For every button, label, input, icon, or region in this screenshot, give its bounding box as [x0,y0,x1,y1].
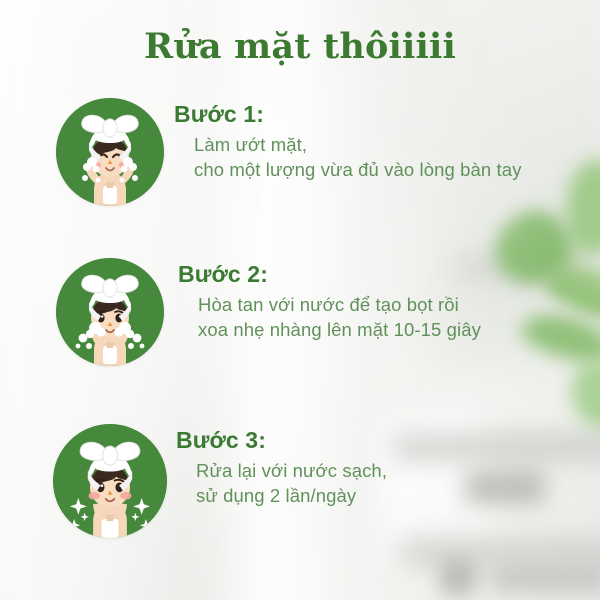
step-3-line-2: sử dụng 2 lần/ngày [196,484,592,509]
step-row-3: Bước 3: Rửa lại với nước sạch, sử dụng 2… [0,424,600,544]
step-2-line-1: Hòa tan với nước để tạo bọt rồi [198,294,459,315]
step-1-line-1: Làm ướt mặt, [194,134,307,155]
page-title: Rửa mặt thôiiiii [0,26,600,67]
step-2-body: Hòa tan với nước để tạo bọt rồi xoa nhẹ … [198,293,592,343]
step-3-text-block: Bước 3: Rửa lại với nước sạch, sử dụng 2… [176,428,592,509]
step-3-body: Rửa lại với nước sạch, sử dụng 2 lần/ngà… [196,459,592,509]
step-1-body: Làm ướt mặt, cho một lượng vừa đủ vào lò… [194,133,592,183]
step-1-text-block: Bước 1: Làm ướt mặt, cho một lượng vừa đ… [174,102,592,183]
girl-towel-foam-lather-icon [56,258,164,366]
step-2-heading: Bước 2: [178,262,592,286]
content-layer: Rửa mặt thôiiiii [0,0,600,600]
infographic-canvas: Rửa mặt thôiiiii [0,0,600,600]
step-1-heading: Bước 1: [174,102,592,126]
step-row-2: Bước 2: Hòa tan với nước để tạo bọt rồi … [0,258,600,378]
step-3-heading: Bước 3: [176,428,592,452]
step-row-1: Bước 1: Làm ướt mặt, cho một lượng vừa đ… [0,98,600,218]
girl-towel-clean-sparkle-icon [53,424,167,538]
step-1-line-2: cho một lượng vừa đủ vào lòng bàn tay [194,158,592,183]
step-2-line-2: xoa nhẹ nhàng lên mặt 10-15 giây [198,318,592,343]
step-2-text-block: Bước 2: Hòa tan với nước để tạo bọt rồi … [178,262,592,343]
step-3-line-1: Rửa lại với nước sạch, [196,460,387,481]
girl-towel-washing-face-icon [56,98,164,206]
